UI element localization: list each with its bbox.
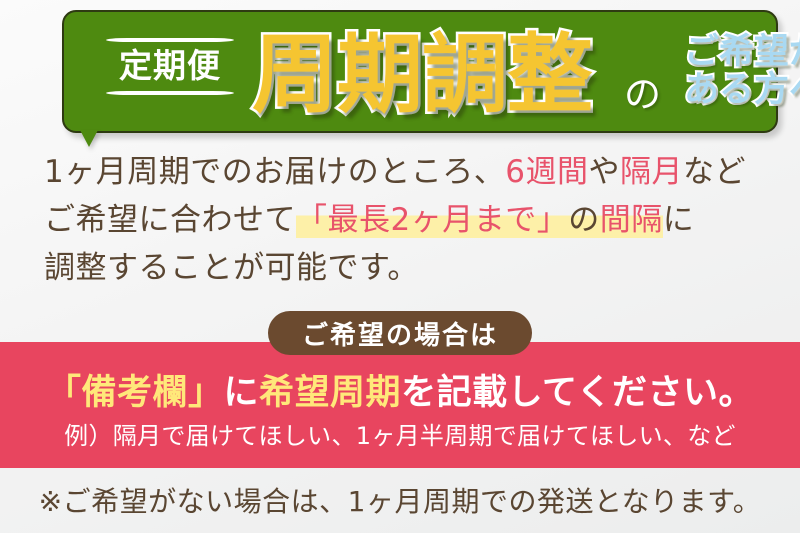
pink-main-part-1: に xyxy=(224,373,260,413)
body-line-1-part-2: や xyxy=(588,154,620,190)
badge-label: 定期便 xyxy=(100,49,240,84)
request-case-pill-label: ご希望の場合は xyxy=(302,315,498,352)
body-line-1: 1ヶ月周期でのお届けのところ、6週間や隔月など xyxy=(44,148,774,196)
body-line-2-part-1: ご希望に合わせて xyxy=(44,202,296,238)
body-line-1-accent-2: 隔月 xyxy=(620,154,683,190)
pink-main-accent-2: 希望周期 xyxy=(259,373,401,413)
body-line-1-part-1: 1ヶ月周期でのお届けのところ、 xyxy=(44,154,505,190)
body-line-2-accent-2: 間隔 xyxy=(600,202,663,238)
banner-tail-arrow xyxy=(80,130,98,147)
badge-top-rule xyxy=(106,38,234,42)
pink-main-part-2: を記載してください。 xyxy=(401,373,754,413)
body-line-3: 調整することが可能です。 xyxy=(44,244,774,292)
pink-main-accent-1: 「備考欄」 xyxy=(46,373,224,413)
body-line-2: ご希望に合わせて「最長2ヶ月まで」の間隔に xyxy=(44,196,774,244)
banner-particle: の xyxy=(624,64,661,118)
body-line-1-part-3: など xyxy=(683,154,746,190)
pink-main-line: 「備考欄」に希望周期を記載してください。 xyxy=(0,364,800,415)
green-header-banner: 定期便 周期調整 の ご希望が ある方へ xyxy=(62,10,778,133)
pink-instruction-band: 「備考欄」に希望周期を記載してください。 例）隔月で届けてほしい、1ヶ月半周期で… xyxy=(0,342,800,468)
body-line-2-highlight: 「最長2ヶ月まで」 xyxy=(296,202,568,238)
pink-example-line: 例）隔月で届けてほしい、1ヶ月半周期で届けてほしい、など xyxy=(0,416,800,451)
body-line-1-accent-1: 6週間 xyxy=(505,154,588,190)
banner-subtitle: ご希望が ある方へ xyxy=(666,34,800,110)
promo-banner-page: 定期便 周期調整 の ご希望が ある方へ 1ヶ月周期でのお届けのところ、6週間や… xyxy=(0,0,800,533)
banner-subtitle-line-2: ある方へ xyxy=(666,72,800,110)
request-case-pill: ご希望の場合は xyxy=(268,311,532,355)
body-paragraph: 1ヶ月周期でのお届けのところ、6週間や隔月など ご希望に合わせて「最長2ヶ月まで… xyxy=(44,148,774,292)
footer-note: ※ご希望がない場合は、1ヶ月周期での発送となります。 xyxy=(0,480,800,520)
banner-subtitle-line-1: ご希望が xyxy=(666,34,800,72)
body-line-2-part-2: の xyxy=(568,202,600,238)
body-line-2-part-3: に xyxy=(663,202,695,238)
badge-bottom-rule xyxy=(106,91,234,95)
subscription-badge: 定期便 xyxy=(100,38,240,95)
banner-title: 周期調整 xyxy=(252,26,592,125)
